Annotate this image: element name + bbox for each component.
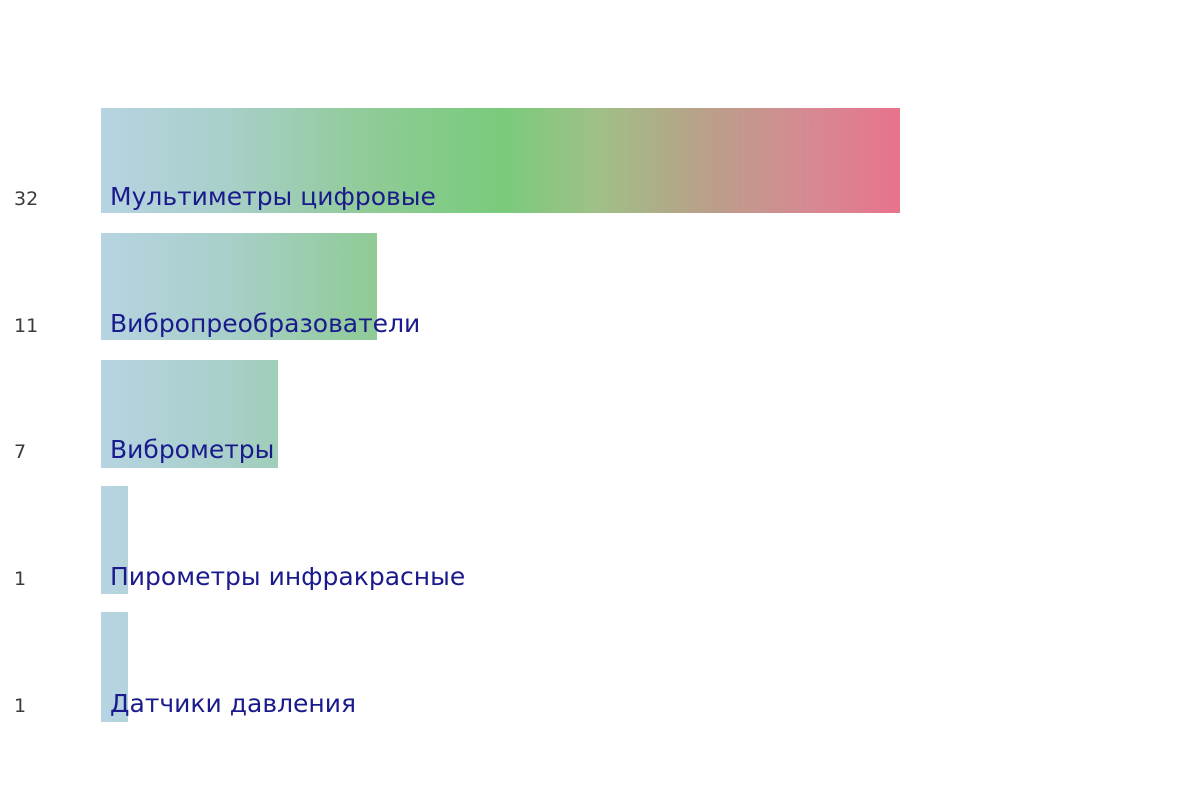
bar-value-label: 1 <box>14 695 84 717</box>
bar-category-label: Мультиметры цифровые <box>110 184 436 209</box>
bar-category-label: Пирометры инфракрасные <box>110 564 465 589</box>
bar-chart: 32Мультиметры цифровые11Вибропреобразова… <box>0 0 1200 800</box>
bar-value-label: 1 <box>14 568 84 590</box>
bar-category-label: Виброметры <box>110 437 274 462</box>
bar-value-label: 7 <box>14 441 84 463</box>
bar-value-label: 11 <box>14 315 84 337</box>
bar-category-label: Датчики давления <box>110 691 356 716</box>
bar-category-label: Вибропреобразователи <box>110 311 420 336</box>
bar-value-label: 32 <box>14 188 84 210</box>
